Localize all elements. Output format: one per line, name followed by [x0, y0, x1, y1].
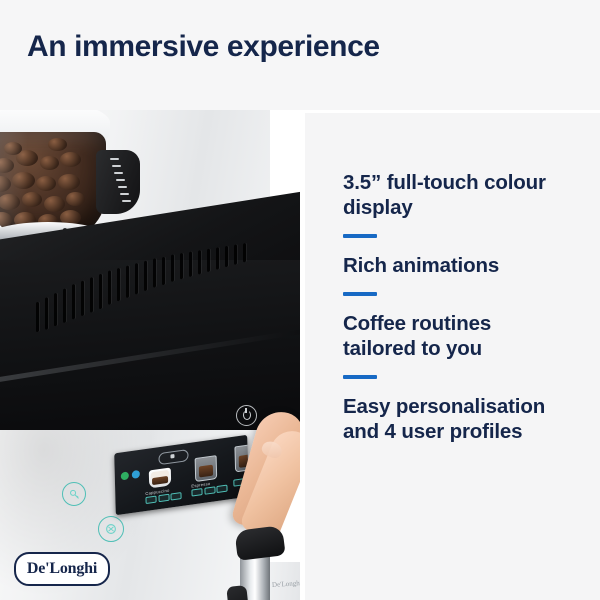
- feature-divider: [343, 375, 377, 379]
- header-band: An immersive experience: [0, 0, 600, 110]
- display-pill-glyph: [170, 454, 174, 459]
- status-dot-blue: [132, 470, 140, 479]
- grind-dial-ticks: [110, 158, 138, 208]
- feature-item-display: 3.5” full-touch colour display: [343, 170, 558, 220]
- feature-divider: [343, 234, 377, 238]
- bean-grinder-icon[interactable]: [98, 516, 124, 542]
- delonghi-logo: De'Longhi: [14, 552, 110, 586]
- feature-list: 3.5” full-touch colour display Rich anim…: [343, 170, 558, 444]
- espresso-glass-icon: [195, 455, 218, 482]
- badge: [191, 488, 202, 497]
- drink-card-cappuccino[interactable]: Cappuccino: [143, 466, 186, 510]
- feature-item-routines: Coffee routines tailored to you: [343, 311, 558, 361]
- feature-label: Easy personalisation and 4 user profiles: [343, 394, 558, 444]
- badge: [216, 485, 227, 494]
- feature-item-animations: Rich animations: [343, 253, 558, 278]
- feature-label: 3.5” full-touch colour display: [343, 170, 558, 220]
- product-photo: Cappuccino Espresso: [0, 110, 300, 600]
- profile-icon[interactable]: [62, 482, 86, 506]
- badge: [158, 494, 169, 503]
- page-title: An immersive experience: [27, 30, 380, 63]
- feature-item-profiles: Easy personalisation and 4 user profiles: [343, 394, 558, 444]
- feature-label: Rich animations: [343, 253, 558, 278]
- feature-panel: 3.5” full-touch colour display Rich anim…: [305, 113, 600, 600]
- badge: [170, 492, 181, 501]
- cappuccino-cup-icon: [149, 468, 171, 489]
- drink-card-espresso[interactable]: Espresso: [189, 453, 232, 503]
- logo-text: De'Longhi: [27, 560, 97, 578]
- power-icon-stem: [245, 408, 246, 413]
- power-icon-arc: [243, 410, 251, 420]
- promo-page: An immersive experience: [0, 0, 600, 600]
- feature-divider: [343, 292, 377, 296]
- badge: [204, 486, 215, 495]
- coffee-spout-head: [234, 525, 285, 561]
- badge: [145, 496, 156, 505]
- status-dot-green: [121, 471, 129, 480]
- feature-label: Coffee routines tailored to you: [343, 311, 558, 361]
